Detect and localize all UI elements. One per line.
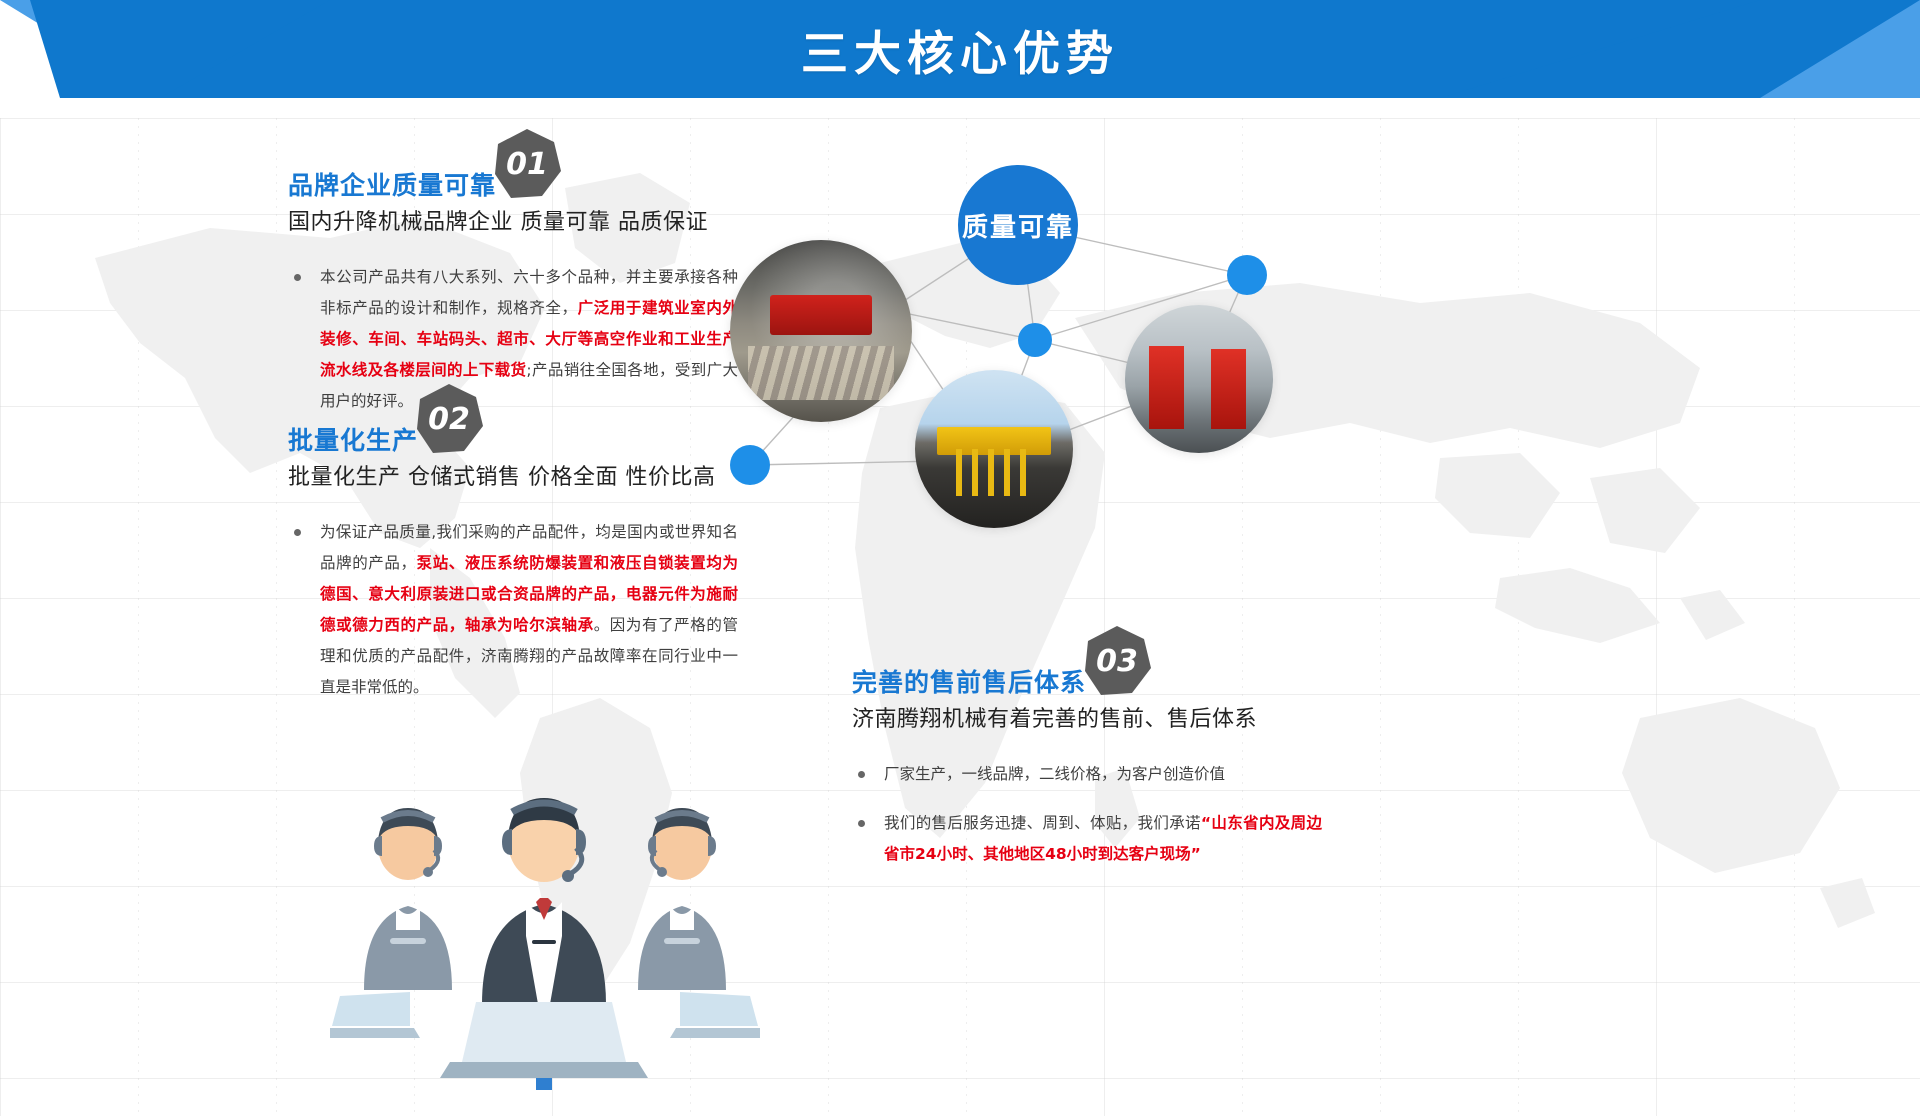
feature-03-bullets: 厂家生产，一线品牌，二线价格，为客户创造价值 我们的售后服务迅捷、周到、体贴，我… bbox=[852, 759, 1322, 870]
feature-02-bullet-text: 为保证产品质量,我们采购的产品配件，均是国内或世界知名品牌的产品，泵站、液压系统… bbox=[320, 523, 738, 696]
feature-02-bullets: 为保证产品质量,我们采购的产品配件，均是国内或世界知名品牌的产品，泵站、液压系统… bbox=[288, 517, 738, 703]
feature-01-number-badge: 01 bbox=[492, 128, 562, 200]
agent-left bbox=[364, 808, 452, 990]
page-title: 三大核心优势 bbox=[0, 0, 1920, 98]
red-lift-platform-photo bbox=[1125, 305, 1273, 453]
bullet-dot-icon bbox=[858, 820, 865, 827]
feature-02-number-badge: 02 bbox=[414, 383, 484, 455]
feature-01-subtitle: 国内升降机械品牌企业 质量可靠 品质保证 bbox=[288, 204, 738, 236]
infographic-page: 三大核心优势 品牌企业质量可靠 01 国内升降机械品牌企业 质量可靠 品质保证 … bbox=[0, 0, 1920, 1116]
network-node-left bbox=[730, 445, 770, 485]
feature-block-03: 完善的售前售后体系 03 济南腾翔机械有着完善的售前、售后体系 厂家生产，一线品… bbox=[852, 625, 1322, 888]
body-text: 厂家生产，一线品牌，二线价格，为客户创造价值 bbox=[884, 765, 1225, 783]
feature-01-heading: 品牌企业质量可靠 01 bbox=[288, 128, 738, 198]
laptop-right bbox=[670, 992, 760, 1038]
feature-03-title: 完善的售前售后体系 bbox=[852, 670, 1086, 695]
feature-03-bullet-text-1: 厂家生产，一线品牌，二线价格，为客户创造价值 bbox=[884, 765, 1225, 783]
list-item: 为保证产品质量,我们采购的产品配件，均是国内或世界知名品牌的产品，泵站、液压系统… bbox=[288, 517, 738, 703]
bullet-dot-icon bbox=[858, 771, 865, 778]
quality-bubble: 质量可靠 bbox=[958, 165, 1078, 285]
customer-service-team-illustration bbox=[330, 790, 760, 1090]
feature-03-bullet-text-2: 我们的售后服务迅捷、周到、体贴，我们承诺“山东省内及周边省市24小时、其他地区4… bbox=[884, 814, 1322, 863]
network-node-center bbox=[1018, 323, 1052, 357]
list-item: 我们的售后服务迅捷、周到、体贴，我们承诺“山东省内及周边省市24小时、其他地区4… bbox=[852, 808, 1322, 870]
network-node-top-right bbox=[1227, 255, 1267, 295]
feature-01-title: 品牌企业质量可靠 bbox=[288, 173, 496, 198]
feature-02-title: 批量化生产 bbox=[288, 428, 418, 453]
agent-center bbox=[482, 798, 606, 1004]
center-laptop bbox=[440, 1002, 648, 1090]
aerial-work-platform-photo bbox=[915, 370, 1073, 528]
list-item: 厂家生产，一线品牌，二线价格，为客户创造价值 bbox=[852, 759, 1322, 790]
factory-welding-photo bbox=[730, 240, 912, 422]
quality-bubble-label: 质量可靠 bbox=[962, 207, 1074, 244]
feature-02-subtitle: 批量化生产 仓储式销售 价格全面 性价比高 bbox=[288, 459, 738, 491]
bullet-dot-icon bbox=[294, 529, 301, 536]
feature-block-02: 批量化生产 02 批量化生产 仓储式销售 价格全面 性价比高 为保证产品质量,我… bbox=[288, 383, 738, 721]
body-text: 我们的售后服务迅捷、周到、体贴，我们承诺 bbox=[884, 814, 1201, 832]
aerial-work-platform-image bbox=[915, 370, 1073, 528]
red-lift-platform-image bbox=[1125, 305, 1273, 453]
factory-welding-image bbox=[730, 240, 912, 422]
page-header-banner: 三大核心优势 bbox=[0, 0, 1920, 98]
feature-02-heading: 批量化生产 02 bbox=[288, 383, 738, 453]
bullet-dot-icon bbox=[294, 274, 301, 281]
network-diagram: 质量可靠 bbox=[690, 130, 1310, 650]
feature-02-number: 02 bbox=[414, 383, 484, 455]
laptop-left bbox=[330, 992, 420, 1038]
agent-right bbox=[638, 808, 726, 990]
feature-03-subtitle: 济南腾翔机械有着完善的售前、售后体系 bbox=[852, 701, 1322, 733]
feature-01-number: 01 bbox=[492, 128, 562, 200]
